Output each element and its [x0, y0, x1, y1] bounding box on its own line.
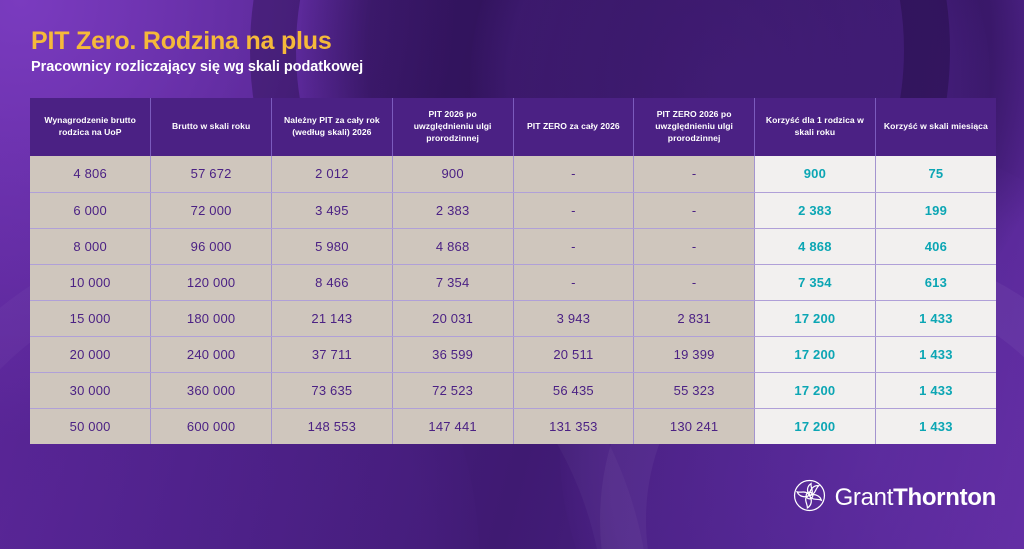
table-cell-r0-c1: 57 672: [151, 156, 272, 192]
table-column-header-5: PIT ZERO 2026 po uwzględnieniu ulgi pror…: [634, 98, 755, 156]
header-block: PIT Zero. Rodzina na plus Pracownicy roz…: [31, 28, 363, 75]
table-cell-r3-c3: 7 354: [392, 264, 513, 300]
table-cell-r7-c2: 148 553: [272, 408, 393, 444]
table-cell-r5-c5: 19 399: [634, 336, 755, 372]
page-subtitle: Pracownicy rozliczający się wg skali pod…: [31, 59, 363, 75]
table-cell-r6-c7: 1 433: [875, 372, 996, 408]
table-cell-r3-c1: 120 000: [151, 264, 272, 300]
table-cell-r1-c2: 3 495: [272, 192, 393, 228]
table-cell-r7-c4: 131 353: [513, 408, 634, 444]
table-cell-r6-c2: 73 635: [272, 372, 393, 408]
table-cell-r6-c3: 72 523: [392, 372, 513, 408]
table-cell-r1-c6: 2 383: [755, 192, 876, 228]
table-cell-r3-c2: 8 466: [272, 264, 393, 300]
table-cell-r7-c6: 17 200: [755, 408, 876, 444]
table-cell-r6-c0: 30 000: [30, 372, 151, 408]
table-cell-r6-c5: 55 323: [634, 372, 755, 408]
table-cell-r2-c7: 406: [875, 228, 996, 264]
table-cell-r6-c4: 56 435: [513, 372, 634, 408]
table-cell-r3-c6: 7 354: [755, 264, 876, 300]
table-cell-r1-c3: 2 383: [392, 192, 513, 228]
table-cell-r7-c7: 1 433: [875, 408, 996, 444]
pit-comparison-table: Wynagrodzenie brutto rodzica na UoPBrutt…: [30, 98, 996, 444]
table-cell-r4-c0: 15 000: [30, 300, 151, 336]
table-header-row: Wynagrodzenie brutto rodzica na UoPBrutt…: [30, 98, 996, 156]
table-column-header-0: Wynagrodzenie brutto rodzica na UoP: [30, 98, 151, 156]
table-cell-r3-c5: -: [634, 264, 755, 300]
table-body: 4 80657 6722 012900--900756 00072 0003 4…: [30, 156, 996, 444]
table-cell-r7-c3: 147 441: [392, 408, 513, 444]
logo-word-thornton: Thornton: [893, 484, 996, 511]
grant-thornton-swirl-icon: [793, 479, 826, 517]
page-title: PIT Zero. Rodzina na plus: [31, 28, 363, 54]
table-cell-r0-c5: -: [634, 156, 755, 192]
table-cell-r1-c4: -: [513, 192, 634, 228]
logo-wordmark: GrantThornton: [835, 484, 996, 512]
table-cell-r0-c3: 900: [392, 156, 513, 192]
table-cell-r4-c2: 21 143: [272, 300, 393, 336]
table-row: 6 00072 0003 4952 383--2 383199: [30, 192, 996, 228]
table-row: 30 000360 00073 63572 52356 43555 32317 …: [30, 372, 996, 408]
table-column-header-4: PIT ZERO za cały 2026: [513, 98, 634, 156]
table-cell-r0-c2: 2 012: [272, 156, 393, 192]
table-cell-r1-c0: 6 000: [30, 192, 151, 228]
table-row: 15 000180 00021 14320 0313 9432 83117 20…: [30, 300, 996, 336]
table-cell-r0-c7: 75: [875, 156, 996, 192]
table-cell-r4-c6: 17 200: [755, 300, 876, 336]
table-cell-r3-c4: -: [513, 264, 634, 300]
table-row: 20 000240 00037 71136 59920 51119 39917 …: [30, 336, 996, 372]
table-column-header-3: PIT 2026 po uwzględnieniu ulgi prorodzin…: [392, 98, 513, 156]
table-cell-r2-c3: 4 868: [392, 228, 513, 264]
table-header: Wynagrodzenie brutto rodzica na UoPBrutt…: [30, 98, 996, 156]
table-cell-r0-c0: 4 806: [30, 156, 151, 192]
table-cell-r5-c7: 1 433: [875, 336, 996, 372]
table-cell-r3-c7: 613: [875, 264, 996, 300]
table-cell-r0-c6: 900: [755, 156, 876, 192]
table-cell-r2-c5: -: [634, 228, 755, 264]
comparison-table-wrapper: Wynagrodzenie brutto rodzica na UoPBrutt…: [30, 98, 996, 444]
table-cell-r2-c1: 96 000: [151, 228, 272, 264]
table-cell-r1-c5: -: [634, 192, 755, 228]
table-cell-r4-c4: 3 943: [513, 300, 634, 336]
table-cell-r6-c6: 17 200: [755, 372, 876, 408]
table-cell-r6-c1: 360 000: [151, 372, 272, 408]
table-cell-r5-c0: 20 000: [30, 336, 151, 372]
logo-word-grant: Grant: [835, 484, 894, 511]
table-cell-r2-c4: -: [513, 228, 634, 264]
table-cell-r5-c6: 17 200: [755, 336, 876, 372]
table-row: 4 80657 6722 012900--90075: [30, 156, 996, 192]
table-cell-r1-c7: 199: [875, 192, 996, 228]
table-column-header-1: Brutto w skali roku: [151, 98, 272, 156]
table-column-header-7: Korzyść w skali miesiąca: [875, 98, 996, 156]
table-cell-r2-c2: 5 980: [272, 228, 393, 264]
table-column-header-6: Korzyść dla 1 rodzica w skali roku: [755, 98, 876, 156]
table-cell-r7-c0: 50 000: [30, 408, 151, 444]
table-cell-r7-c1: 600 000: [151, 408, 272, 444]
table-cell-r3-c0: 10 000: [30, 264, 151, 300]
table-cell-r2-c6: 4 868: [755, 228, 876, 264]
table-row: 50 000600 000148 553147 441131 353130 24…: [30, 408, 996, 444]
table-cell-r5-c2: 37 711: [272, 336, 393, 372]
table-cell-r4-c7: 1 433: [875, 300, 996, 336]
table-cell-r4-c5: 2 831: [634, 300, 755, 336]
table-cell-r4-c1: 180 000: [151, 300, 272, 336]
table-row: 8 00096 0005 9804 868--4 868406: [30, 228, 996, 264]
table-cell-r5-c3: 36 599: [392, 336, 513, 372]
table-cell-r7-c5: 130 241: [634, 408, 755, 444]
table-cell-r4-c3: 20 031: [392, 300, 513, 336]
table-cell-r5-c4: 20 511: [513, 336, 634, 372]
table-cell-r5-c1: 240 000: [151, 336, 272, 372]
table-row: 10 000120 0008 4667 354--7 354613: [30, 264, 996, 300]
table-column-header-2: Należny PIT za cały rok (według skali) 2…: [272, 98, 393, 156]
grant-thornton-logo: GrantThornton: [793, 479, 996, 517]
table-cell-r0-c4: -: [513, 156, 634, 192]
table-cell-r2-c0: 8 000: [30, 228, 151, 264]
table-cell-r1-c1: 72 000: [151, 192, 272, 228]
